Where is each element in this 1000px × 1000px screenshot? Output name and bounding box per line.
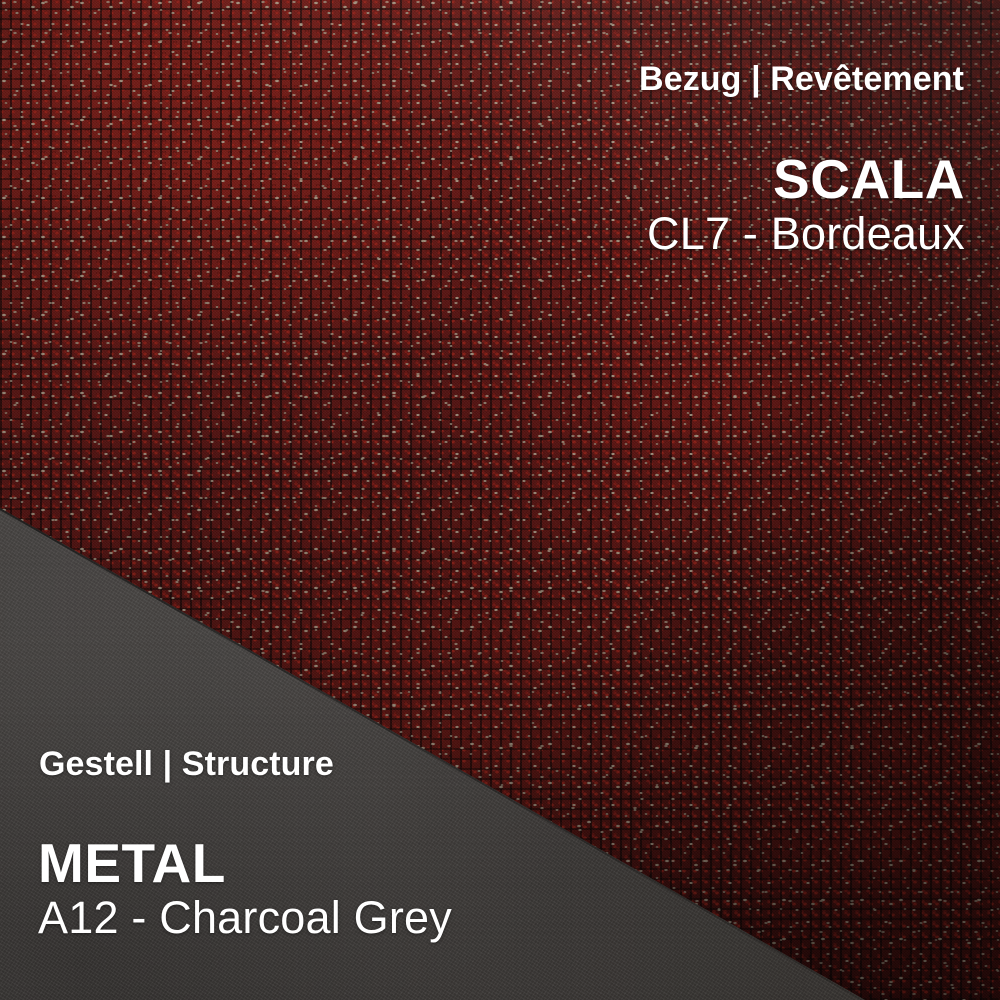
upholstery-kicker-label: Bezug | Revêtement	[639, 62, 964, 96]
upholstery-material-name: SCALA	[773, 152, 965, 207]
frame-color-code: A12 - Charcoal Grey	[38, 895, 452, 940]
frame-material-name: METAL	[38, 836, 226, 891]
material-swatch-image: Bezug | Revêtement SCALA CL7 - Bordeaux …	[0, 0, 1000, 1000]
frame-kicker-label: Gestell | Structure	[39, 747, 334, 781]
upholstery-color-code: CL7 - Bordeaux	[647, 211, 965, 256]
